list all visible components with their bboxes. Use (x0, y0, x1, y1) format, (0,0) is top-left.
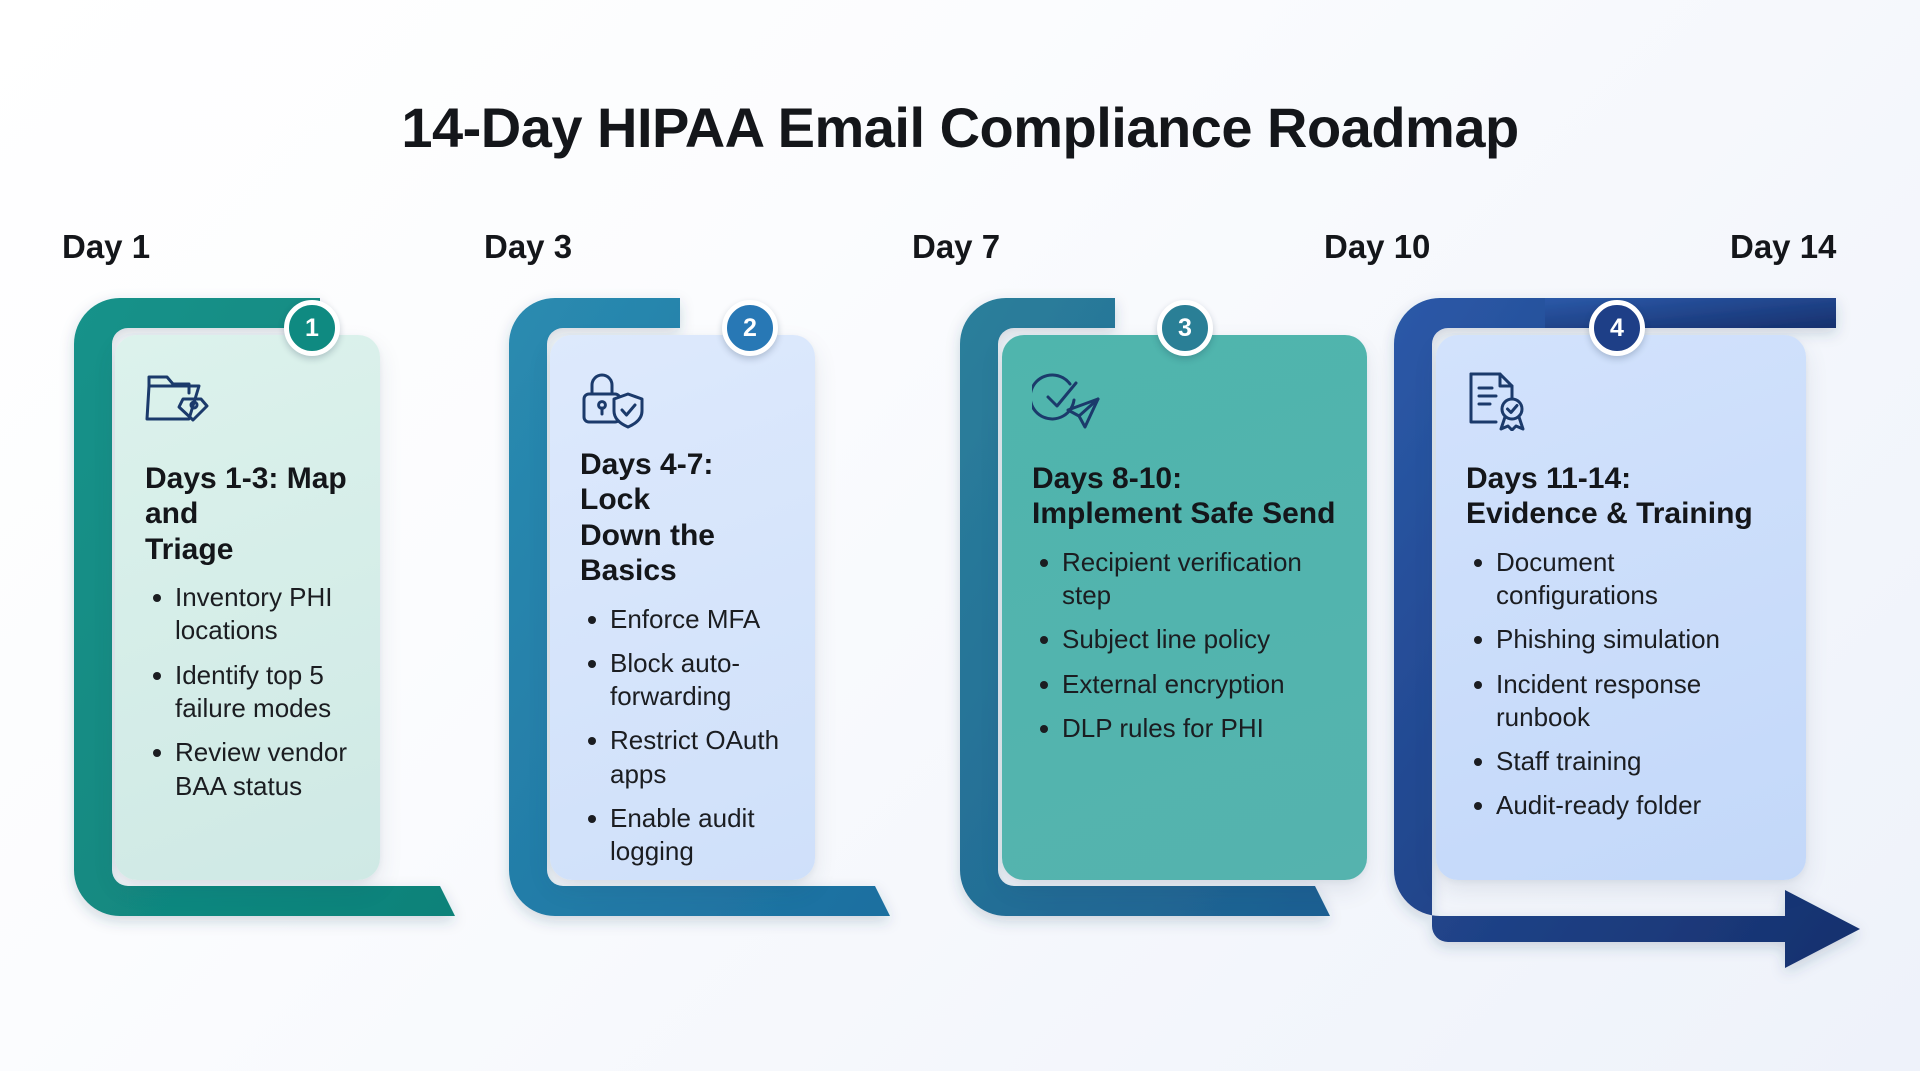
stage-badge-4[interactable]: 4 (1589, 300, 1645, 356)
check-circle-send-icon (1032, 369, 1337, 445)
list-item: Audit-ready folder (1492, 789, 1776, 822)
card-progress-arrow-icon (1032, 832, 1367, 858)
list-item: Subject line policy (1058, 623, 1337, 656)
card-progress-arrow-icon (580, 832, 815, 858)
stage-card-4[interactable]: Days 11-14: Evidence & Training Document… (1436, 335, 1806, 880)
list-item: Identify top 5 failure modes (171, 659, 350, 726)
list-item: Incident response runbook (1492, 668, 1776, 735)
card-progress-arrow-icon (1466, 832, 1806, 858)
list-item: Review vendor BAA status (171, 736, 350, 803)
stage-badge-3[interactable]: 3 (1157, 300, 1213, 356)
list-item: DLP rules for PHI (1058, 712, 1337, 745)
stage-card-2[interactable]: Days 4-7: Lock Down the Basics Enforce M… (550, 335, 815, 880)
list-item: Enforce MFA (606, 603, 785, 636)
stage-card-3[interactable]: Days 8-10: Implement Safe Send Recipient… (1002, 335, 1367, 880)
stage-badge-number: 3 (1178, 314, 1192, 343)
stage-card-title: Days 11-14: Evidence & Training (1466, 461, 1776, 532)
list-item: Block auto-forwarding (606, 647, 785, 714)
list-item: Restrict OAuth apps (606, 724, 785, 791)
stage-badge-number: 2 (743, 314, 757, 343)
list-item: Staff training (1492, 745, 1776, 778)
stage-card-title: Days 8-10: Implement Safe Send (1032, 461, 1337, 532)
list-item: Inventory PHI locations (171, 581, 350, 648)
list-item: Execute BAAs (606, 879, 785, 880)
card-progress-arrow-icon (145, 832, 380, 858)
folder-tag-icon (145, 369, 350, 445)
document-certificate-icon (1466, 369, 1776, 445)
stage-badge-number: 4 (1610, 314, 1624, 343)
lock-shield-check-icon (580, 369, 785, 431)
list-item: External encryption (1058, 668, 1337, 701)
stage-card-title: Days 1-3: Map and Triage (145, 461, 350, 567)
stage-card-list: Inventory PHI locations Identify top 5 f… (145, 581, 350, 814)
list-item: Recipient verification step (1058, 546, 1337, 613)
stage-badge-2[interactable]: 2 (722, 300, 778, 356)
stage-badge-1[interactable]: 1 (284, 300, 340, 356)
list-item: Phishing simulation (1492, 623, 1776, 656)
stage-badge-number: 1 (305, 314, 319, 343)
stage-card-list: Document configurations Phishing simulat… (1466, 546, 1776, 834)
stage-card-title: Days 4-7: Lock Down the Basics (580, 447, 785, 589)
infographic-canvas: 14-Day HIPAA Email Compliance Roadmap Da… (0, 0, 1920, 1071)
stage-card-1[interactable]: Days 1-3: Map and Triage Inventory PHI l… (115, 335, 380, 880)
stage-card-list: Recipient verification step Subject line… (1032, 546, 1337, 756)
list-item: Document configurations (1492, 546, 1776, 613)
